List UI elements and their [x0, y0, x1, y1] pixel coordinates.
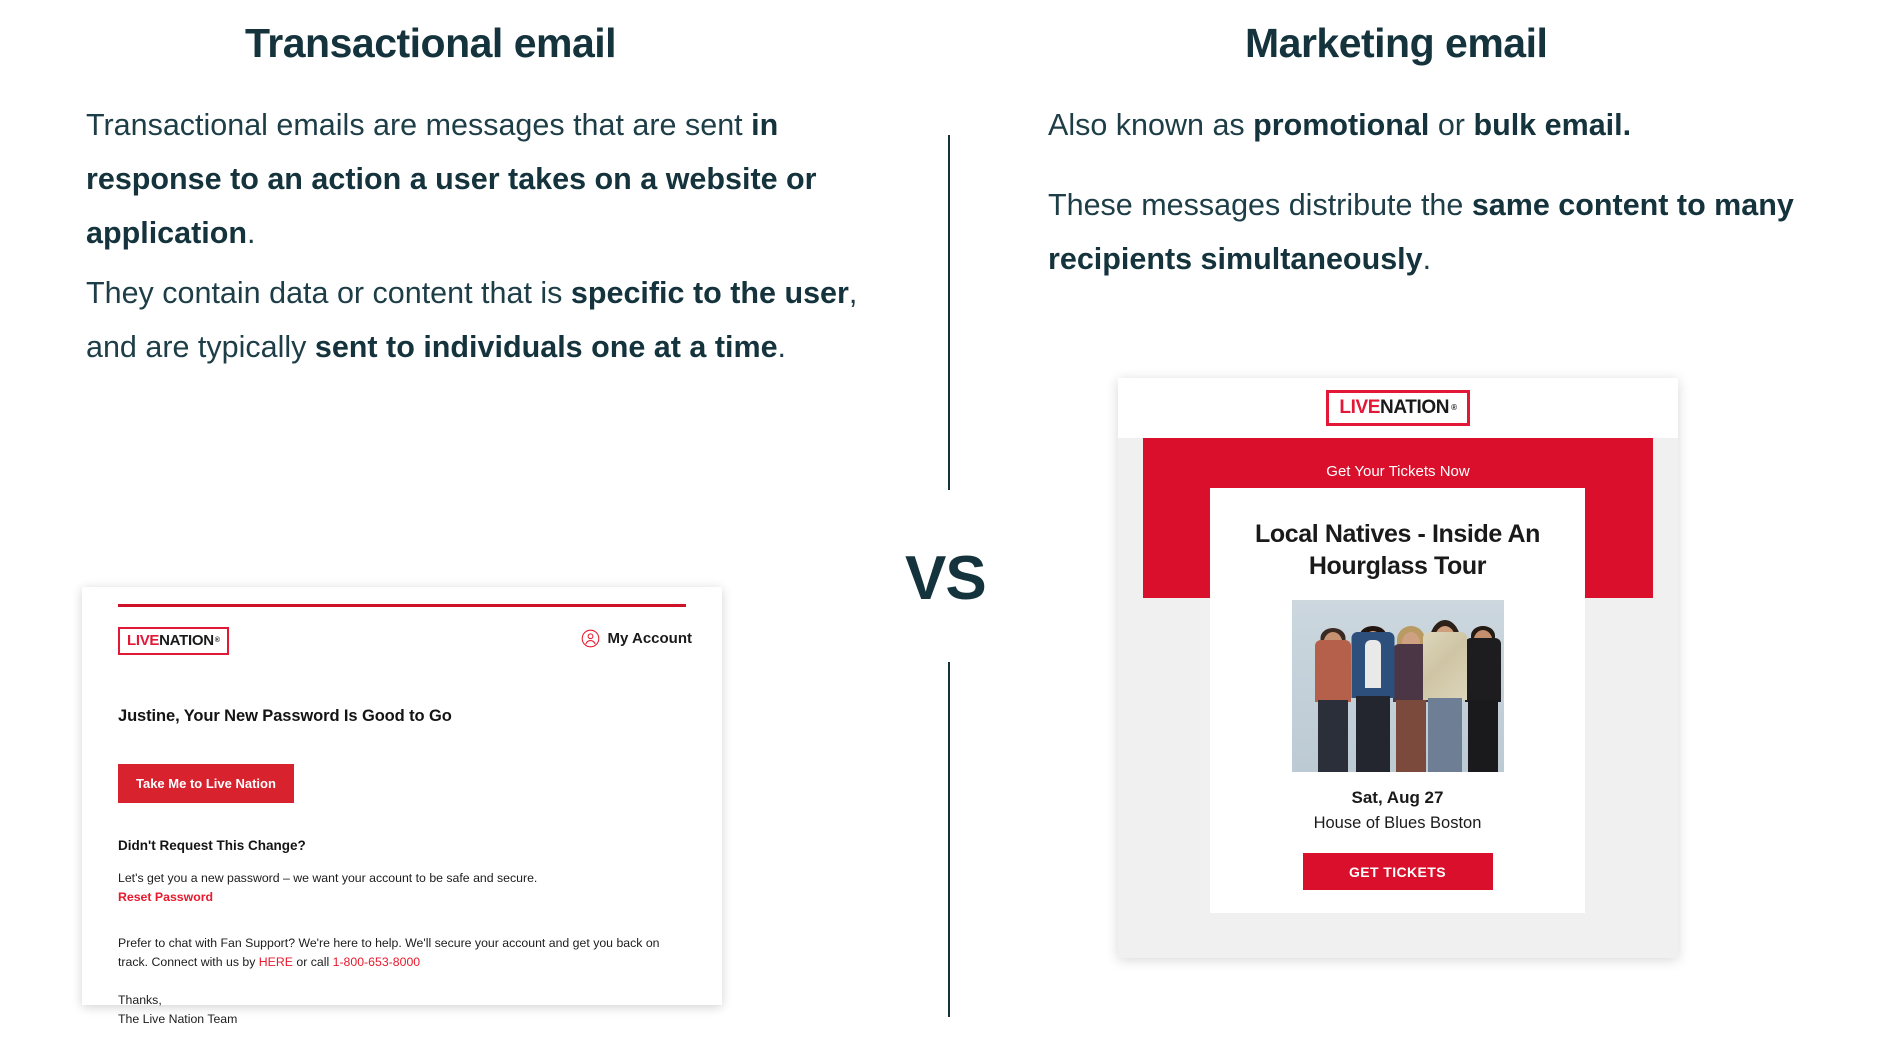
my-account-link[interactable]: My Account: [581, 629, 692, 648]
band-member: [1464, 620, 1502, 772]
signoff-line-1: Thanks,: [118, 991, 518, 1010]
live-nation-logo: LIVENATION®: [1326, 390, 1469, 426]
logo-live-text: LIVE: [127, 633, 159, 648]
vs-label: VS: [905, 543, 986, 614]
signoff-line-2: The Live Nation Team: [118, 1010, 518, 1029]
get-tickets-button[interactable]: GET TICKETS: [1303, 853, 1493, 890]
password-body-line: Let's get you a new password – we want y…: [118, 869, 678, 888]
band-photo: [1292, 600, 1504, 772]
event-venue: House of Blues Boston: [1210, 814, 1585, 833]
event-panel: Local Natives - Inside An Hourglass Tour: [1210, 488, 1585, 913]
right-paragraph-2: These messages distribute the same conte…: [1048, 178, 1868, 286]
email-headline: Justine, Your New Password Is Good to Go: [118, 707, 452, 726]
banner-text: Get Your Tickets Now: [1143, 463, 1653, 480]
phone-link[interactable]: 1-800-653-8000: [333, 955, 421, 969]
email-signoff: Thanks, The Live Nation Team: [118, 991, 518, 1029]
vertical-divider-top: [948, 135, 950, 490]
right-paragraph-1: Also known as promotional or bulk email.: [1048, 98, 1868, 152]
band-member: [1422, 610, 1468, 772]
left-column-title: Transactional email: [245, 20, 616, 67]
transactional-email-card: LIVENATION® My Account Justine, Your New…: [82, 587, 722, 1005]
band-member: [1350, 612, 1396, 772]
fan-support-line: Prefer to chat with Fan Support? We're h…: [118, 934, 688, 972]
marketing-email-card: LIVENATION® Get Your Tickets Now Local N…: [1118, 378, 1678, 958]
didnt-request-subheading: Didn't Request This Change?: [118, 838, 306, 853]
take-me-to-live-nation-button[interactable]: Take Me to Live Nation: [118, 764, 294, 803]
band-member: [1314, 622, 1352, 772]
logo-strip: LIVENATION®: [1118, 378, 1678, 438]
top-red-rule: [118, 604, 686, 607]
logo-trademark: ®: [1451, 404, 1457, 412]
logo-nation-text: NATION: [159, 633, 214, 648]
left-paragraph-2: They contain data or content that is spe…: [86, 266, 876, 374]
right-column-title: Marketing email: [1245, 20, 1547, 67]
person-circle-icon: [581, 629, 600, 648]
live-nation-logo: LIVENATION®: [118, 627, 229, 655]
fan-support-text-middle: or call: [293, 955, 333, 969]
logo-live-text: LIVE: [1339, 398, 1380, 417]
logo-nation-text: NATION: [1380, 398, 1449, 417]
event-date: Sat, Aug 27: [1210, 788, 1585, 808]
reset-password-link[interactable]: Reset Password: [118, 888, 213, 907]
event-title: Local Natives - Inside An Hourglass Tour: [1210, 518, 1585, 582]
left-paragraph-1: Transactional emails are messages that a…: [86, 98, 876, 260]
logo-trademark: ®: [215, 637, 220, 644]
here-link[interactable]: HERE: [259, 955, 293, 969]
my-account-label: My Account: [608, 630, 692, 647]
comparison-slide: Transactional email Marketing email Tran…: [0, 0, 1900, 1040]
vertical-divider-bottom: [948, 662, 950, 1017]
